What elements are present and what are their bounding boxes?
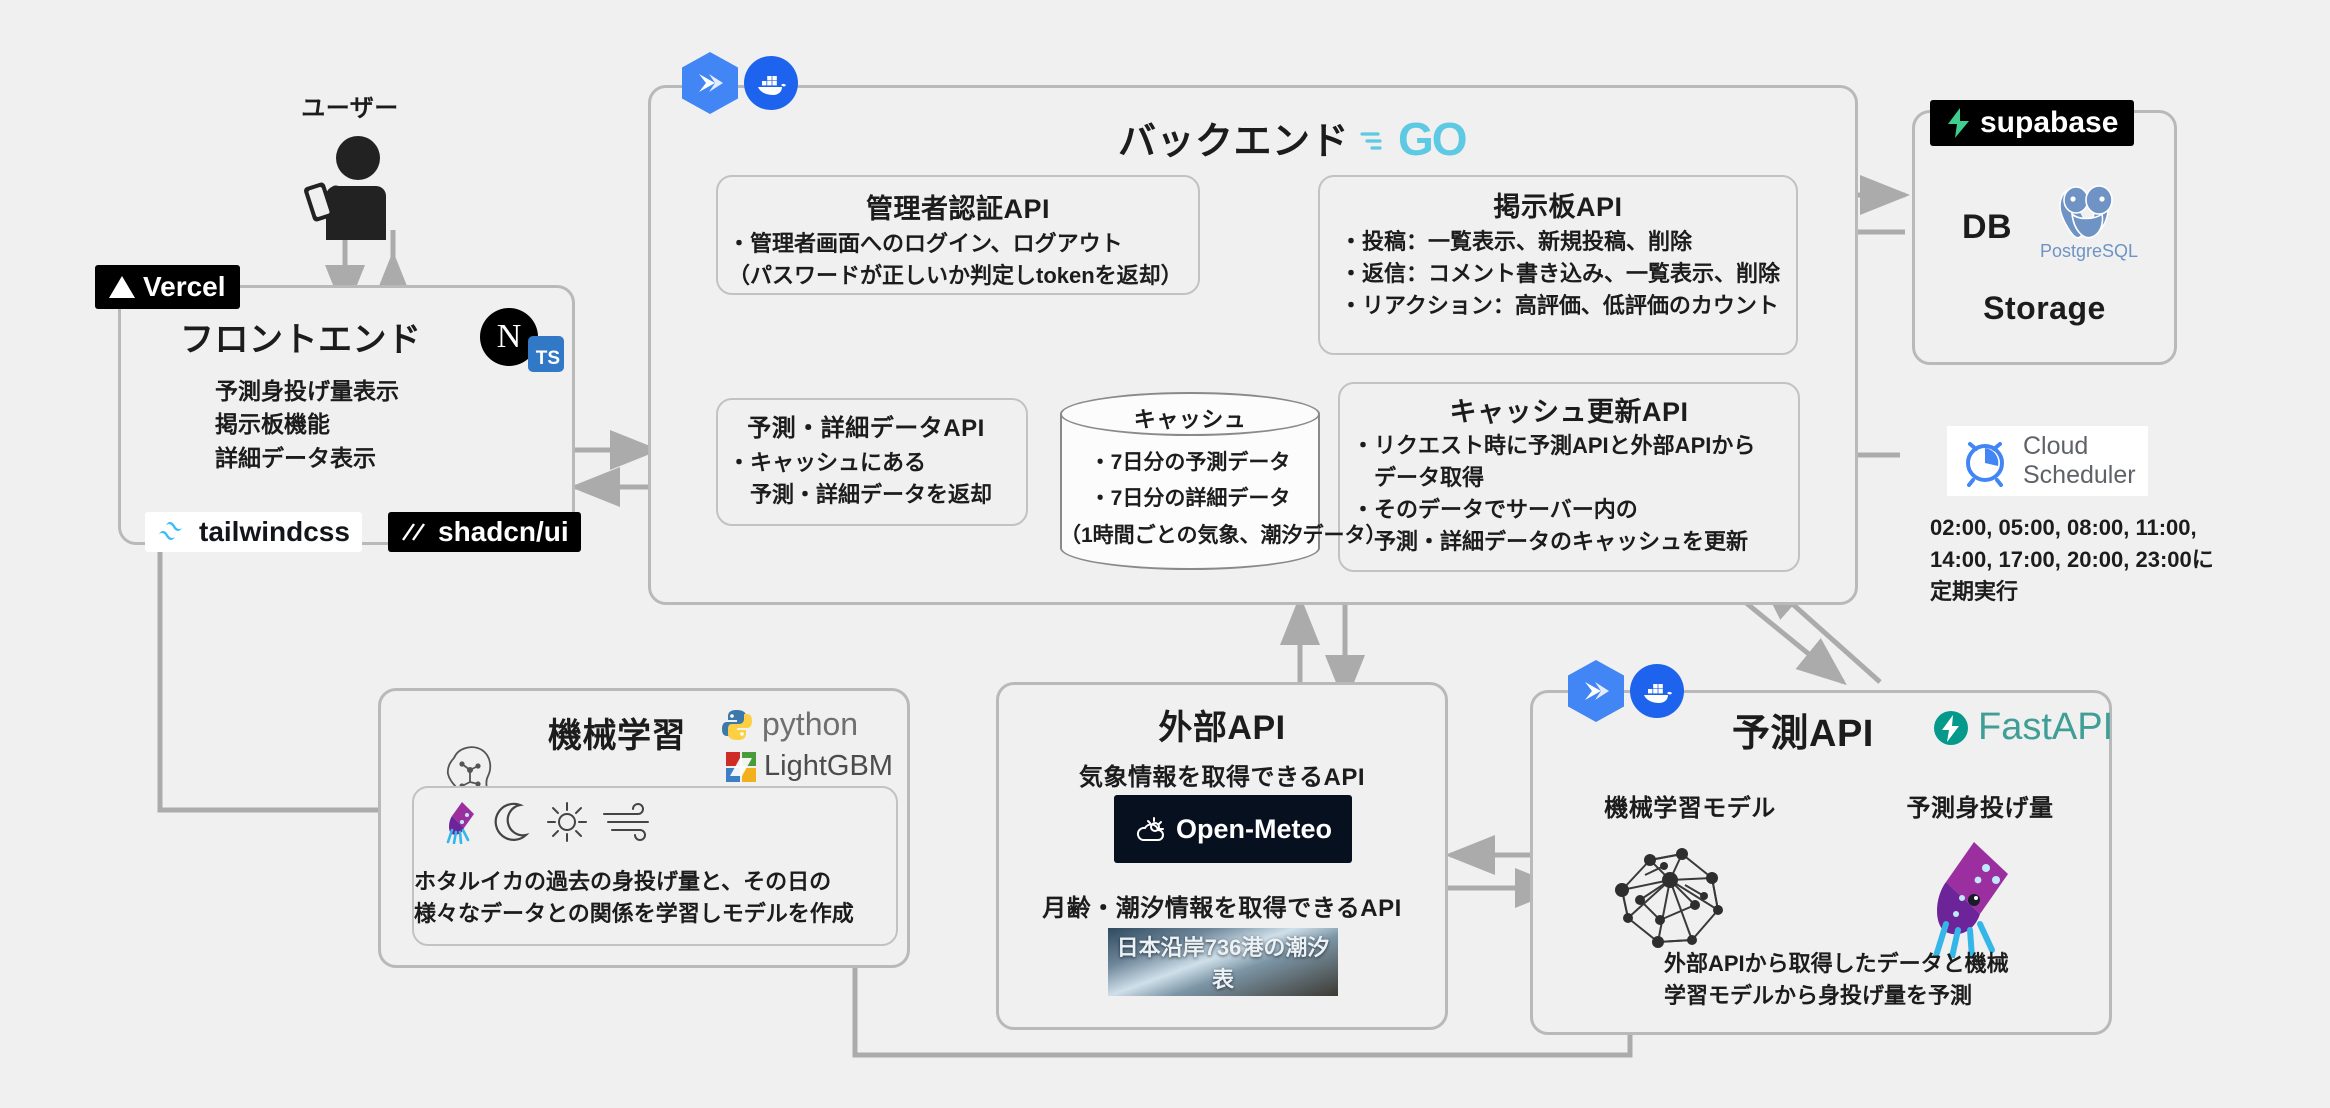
external-api-title: 外部API bbox=[996, 700, 1448, 749]
postgresql-elephant-icon: PostgreSQL bbox=[2040, 180, 2138, 262]
admin-auth-api-lines: ・管理者画面へのログイン、ログアウト （パスワードが正しいか判定しtokenを返… bbox=[728, 228, 1198, 292]
cache-update-api-line: ・リクエスト時に予測APIと外部APIから bbox=[1352, 430, 1755, 462]
wind-icon bbox=[602, 802, 660, 842]
sun-icon bbox=[546, 801, 588, 843]
cloud-run-icon bbox=[682, 52, 738, 114]
sun-cloud-icon bbox=[1134, 815, 1168, 843]
admin-auth-api-line: （パスワードが正しいか判定しtokenを返却） bbox=[728, 260, 1198, 292]
shadcn-ui-badge: shadcn/ui bbox=[388, 512, 581, 552]
frontend-feature: 予測身投げ量表示 bbox=[215, 375, 399, 408]
tide-api-caption: 月齢・潮汐情報を取得できるAPI bbox=[996, 888, 1448, 923]
python-logo: python bbox=[720, 706, 858, 743]
cache-update-api-line: 予測・詳細データのキャッシュを更新 bbox=[1352, 526, 1755, 558]
go-speedlines-icon bbox=[1360, 122, 1394, 156]
storage-label: Storage bbox=[1912, 290, 2177, 327]
forecast-detail-api-line: 予測・詳細データを返却 bbox=[728, 479, 992, 511]
frontend-feature-list: 予測身投げ量表示 掲示板機能 詳細データ表示 bbox=[215, 375, 399, 475]
tide-thumbnail-text: 日本沿岸736港の潮汐表 bbox=[1108, 930, 1338, 994]
machine-learning-title: 機械学習 bbox=[548, 708, 686, 757]
squid-icon bbox=[1912, 838, 2022, 963]
user-label: ユーザー bbox=[250, 88, 450, 123]
vercel-badge: Vercel bbox=[95, 265, 240, 309]
ml-feature-icons bbox=[440, 800, 660, 844]
cloud-run-icon bbox=[1568, 660, 1624, 722]
diagram-canvas: ユーザー Vercel フロントエンド N TS 予測身投げ量表示 掲示板機能 … bbox=[0, 0, 2330, 1108]
shadcn-slash-icon bbox=[400, 521, 430, 543]
cache-title: キャッシュ bbox=[1060, 402, 1320, 434]
prediction-model-label: 機械学習モデル bbox=[1540, 788, 1840, 823]
backend-runtime-icons bbox=[682, 52, 798, 114]
board-api-line: ・返信：コメント書き込み、一覧表示、削除 bbox=[1340, 258, 1790, 290]
prediction-output-label: 予測身投げ量 bbox=[1840, 788, 2120, 823]
python-icon bbox=[720, 708, 754, 742]
ml-description: ホタルイカの過去の身投げ量と、その日の 様々なデータとの関係を学習しモデルを作成 bbox=[414, 866, 894, 930]
cache-update-api-title: キャッシュ更新API bbox=[1338, 390, 1800, 429]
scheduler-schedule-text: 02:00, 05:00, 08:00, 11:00, 14:00, 17:00… bbox=[1930, 512, 2214, 608]
db-label: DB bbox=[1962, 208, 2012, 247]
fastapi-icon bbox=[1932, 709, 1970, 747]
tide-table-thumbnail[interactable]: 日本沿岸736港の潮汐表 bbox=[1108, 928, 1338, 996]
person-with-phone-icon bbox=[300, 130, 400, 240]
ml-description-line: 様々なデータとの関係を学習しモデルを作成 bbox=[414, 898, 894, 930]
frontend-feature: 詳細データ表示 bbox=[215, 442, 399, 475]
tailwind-icon bbox=[157, 521, 191, 543]
forecast-detail-api-lines: ・キャッシュにある 予測・詳細データを返却 bbox=[728, 447, 992, 511]
typescript-badge: TS bbox=[528, 336, 564, 372]
fastapi-logo: FastAPI bbox=[1932, 706, 2113, 749]
backend-title: バックエンド bbox=[1118, 110, 1349, 165]
frontend-feature: 掲示板機能 bbox=[215, 408, 399, 441]
frontend-title: フロントエンド bbox=[180, 312, 422, 361]
admin-auth-api-line: ・管理者画面へのログイン、ログアウト bbox=[728, 228, 1198, 260]
alarm-clock-icon bbox=[1959, 435, 2011, 487]
cache-cylinder: キャッシュ ・7日分の予測データ ・7日分の詳細データ （1時間ごとの気象、潮汐… bbox=[1060, 392, 1320, 570]
board-api-lines: ・投稿：一覧表示、新規投稿、削除 ・返信：コメント書き込み、一覧表示、削除 ・リ… bbox=[1340, 226, 1790, 322]
cache-line: ・7日分の詳細データ bbox=[1060, 484, 1320, 514]
cache-update-api-lines: ・リクエスト時に予測APIと外部APIから データ取得 ・そのデータでサーバー内… bbox=[1352, 430, 1755, 558]
docker-icon bbox=[744, 56, 798, 110]
prediction-runtime-icons bbox=[1568, 660, 1684, 722]
squid-icon bbox=[440, 800, 480, 844]
schedule-line: 02:00, 05:00, 08:00, 11:00, bbox=[1930, 512, 2214, 544]
cloud-scheduler-name-2: Scheduler bbox=[2023, 461, 2136, 490]
supabase-bolt-icon bbox=[1946, 108, 1972, 138]
forecast-detail-api-line: ・キャッシュにある bbox=[728, 447, 992, 479]
schedule-line: 14:00, 17:00, 20:00, 23:00に bbox=[1930, 544, 2214, 576]
lightgbm-icon bbox=[726, 752, 756, 782]
board-api-line: ・リアクション：高評価、低評価のカウント bbox=[1340, 290, 1790, 322]
board-api-line: ・投稿：一覧表示、新規投稿、削除 bbox=[1340, 226, 1790, 258]
board-api-title: 掲示板API bbox=[1318, 185, 1798, 224]
moon-icon bbox=[494, 802, 532, 842]
cache-line: （1時間ごとの気象、潮汐データ） bbox=[1060, 521, 1320, 551]
weather-api-caption: 気象情報を取得できるAPI bbox=[996, 757, 1448, 792]
admin-auth-api-title: 管理者認証API bbox=[716, 187, 1200, 226]
docker-icon bbox=[1630, 664, 1684, 718]
supabase-badge: supabase bbox=[1930, 100, 2134, 146]
schedule-line: 定期実行 bbox=[1930, 576, 2214, 608]
cloud-scheduler-badge: Cloud Scheduler bbox=[1947, 426, 2148, 496]
go-logo: GO bbox=[1360, 112, 1466, 166]
open-meteo-badge: Open-Meteo bbox=[1114, 795, 1352, 863]
prediction-description: 外部APIから取得したデータと機械 学習モデルから身投げ量を予測 bbox=[1664, 948, 2009, 1012]
prediction-api-title: 予測API bbox=[1732, 702, 1874, 757]
cloud-scheduler-name-1: Cloud bbox=[2023, 432, 2136, 461]
cache-update-api-line: ・そのデータでサーバー内の bbox=[1352, 494, 1755, 526]
vercel-triangle-icon bbox=[109, 276, 135, 298]
forecast-detail-api-title: 予測・詳細データAPI bbox=[710, 408, 1022, 443]
ml-description-line: ホタルイカの過去の身投げ量と、その日の bbox=[414, 866, 894, 898]
tailwindcss-badge: tailwindcss bbox=[145, 512, 362, 552]
postgresql-label: PostgreSQL bbox=[2040, 241, 2138, 262]
cache-line: ・7日分の予測データ bbox=[1060, 448, 1320, 478]
lightgbm-logo: LightGBM bbox=[726, 750, 893, 783]
neural-network-icon bbox=[1600, 830, 1740, 965]
prediction-description-line: 外部APIから取得したデータと機械 bbox=[1664, 948, 2009, 980]
cache-update-api-line: データ取得 bbox=[1352, 462, 1755, 494]
prediction-description-line: 学習モデルから身投げ量を予測 bbox=[1664, 980, 2009, 1012]
